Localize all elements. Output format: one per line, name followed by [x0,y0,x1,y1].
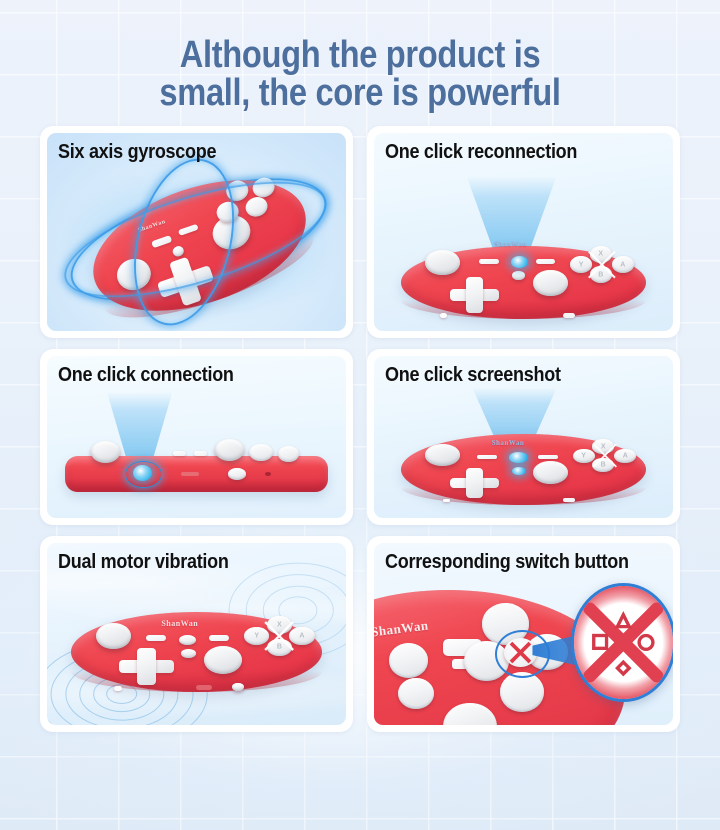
feature-card-one-click-screenshot[interactable]: ShanWan X Y A [367,349,680,525]
face-button-a-label: A [289,633,314,640]
feature-card-corresponding-switch-button[interactable]: ShanWan [367,536,680,732]
pairing-button-glow [511,256,528,268]
playstation-circle-icon [639,636,653,650]
dpad [119,648,174,685]
face-button-left-2 [398,678,434,709]
controller-screenshot: ShanWan X Y A [401,434,646,505]
usb-port [563,498,575,502]
home-button [181,649,196,658]
brand-logo: ShanWan [494,240,527,248]
left-analog-stick [425,250,459,276]
face-button-x-label: X [267,621,292,628]
plus-button [538,455,558,459]
face-button-x: X [592,439,614,453]
title-line-2: small, the core is powerful [85,74,635,112]
face-button-b: B [267,639,292,657]
magnifier-content [574,586,673,699]
dpad [450,468,499,498]
plus-button [536,259,556,264]
face-button-x: X [267,616,292,634]
page-title: Although the product is small, the core … [0,0,720,126]
face-button-x-label: X [590,251,612,258]
face-button-left-1 [389,643,428,678]
home-button-glow [512,467,525,475]
indicator-light [440,313,447,317]
face-button-a-label: A [612,261,634,268]
card-heading-six-axis-gyroscope: Six axis gyroscope [58,141,311,163]
face-button-b-label: B [267,644,292,651]
feature-card-one-click-reconnection[interactable]: ShanWan X Y A [367,126,680,338]
screenshot-button-glow [509,452,529,463]
controller-side-view [65,456,328,492]
card-heading-one-click-screenshot: One click screenshot [385,364,638,386]
face-button-b: B [590,266,612,283]
face-button-b-label: B [592,462,614,469]
shoulder-nub-right [194,451,207,457]
indicator-light [443,499,450,503]
controller-reconnection: ShanWan X Y A [401,246,646,319]
brand-logo: ShanWan [492,439,525,447]
controller-vibration: ShanWan X Y [71,612,322,692]
left-analog-stick [425,444,459,465]
playstation-triangle-icon [618,615,630,627]
feature-card-grid: ShanWan Six axis [40,126,680,732]
left-analog-stick [91,441,120,463]
feature-card-one-click-connection[interactable]: One click connection [40,349,353,525]
face-button-a: A [612,256,634,273]
right-analog-stick [533,270,567,296]
left-analog-stick [96,623,131,649]
usb-port [181,472,199,476]
face-button-a: A [614,449,636,463]
face-button-x: X [590,246,612,263]
face-button-a-label: A [614,452,636,459]
face-button-y-label: Y [573,452,595,459]
minus-button [479,259,499,264]
feature-card-six-axis-gyroscope[interactable]: ShanWan Six axis [40,126,353,338]
usb-port [563,313,575,318]
magnifier-lens [571,583,673,702]
dpad [450,277,499,314]
product-feature-page: Although the product is small, the core … [0,0,720,830]
usb-port [196,685,211,690]
right-analog-stick [204,646,242,674]
face-button-b-label: B [590,271,612,278]
plus-button [209,635,229,641]
face-button-y-label: Y [570,261,592,268]
playstation-square-icon [594,636,607,649]
face-button-x-label: X [592,443,614,450]
card-heading-dual-motor-vibration: Dual motor vibration [58,551,311,573]
home-button [512,271,524,280]
playstation-cross-icon [618,662,630,674]
face-button-y-label: Y [244,633,269,640]
feature-card-dual-motor-vibration[interactable]: ShanWan X Y [40,536,353,732]
right-analog-stick [533,461,567,484]
card-heading-one-click-connection: One click connection [58,364,311,386]
card-heading-one-click-reconnection: One click reconnection [385,141,638,163]
shoulder-nub-left [173,451,186,457]
title-line-1: Although the product is [85,36,635,74]
minus-button [477,455,497,459]
minus-button [146,635,166,641]
card-heading-corresponding-switch-button: Corresponding switch button [385,551,638,573]
indicator-light [114,686,123,691]
face-button-a: A [289,627,314,645]
brand-logo: ShanWan [161,619,198,628]
pairing-button-ring [125,461,161,487]
